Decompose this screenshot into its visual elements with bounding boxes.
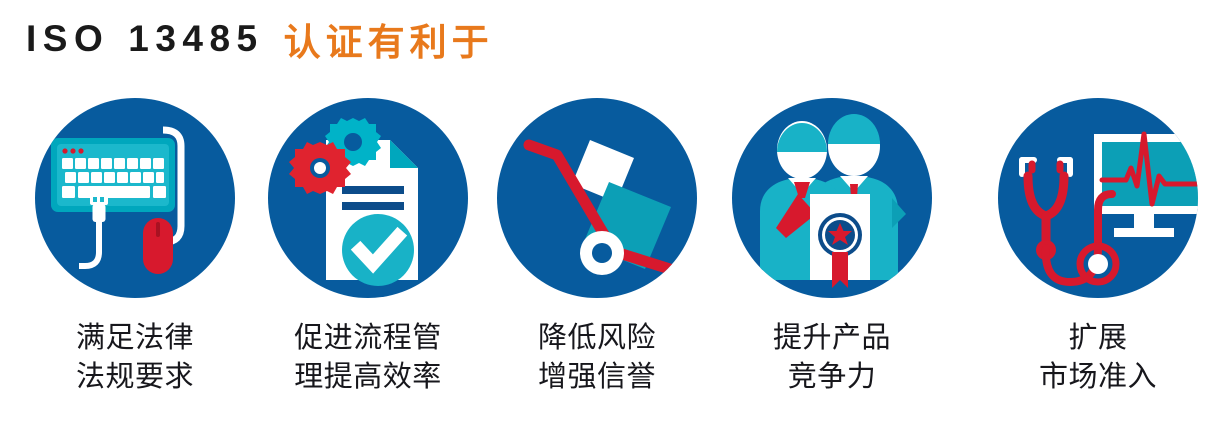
title-standard-name: ISO bbox=[26, 18, 109, 60]
caption-4-line-2: 竞争力 bbox=[712, 357, 952, 396]
caption-5: 扩展 市场准入 bbox=[978, 318, 1218, 396]
caption-5-line-1: 扩展 bbox=[978, 318, 1218, 357]
title-standard-number: 13485 bbox=[128, 18, 263, 60]
icon-circle-5 bbox=[998, 98, 1198, 298]
benefit-card-1 bbox=[35, 98, 235, 298]
people-certificate-icon bbox=[732, 98, 932, 298]
benefit-card-2 bbox=[268, 98, 468, 298]
title-suffix-chinese: 认证有利于 bbox=[284, 12, 494, 66]
document-gears-check-icon bbox=[268, 98, 468, 298]
stethoscope-monitor-icon bbox=[998, 98, 1198, 298]
caption-1: 满足法律 法规要求 bbox=[15, 318, 255, 396]
benefit-card-3 bbox=[497, 98, 697, 298]
icon-circle-2 bbox=[268, 98, 468, 298]
icon-circle-1 bbox=[35, 98, 235, 298]
benefit-card-5 bbox=[998, 98, 1198, 298]
caption-3: 降低风险 增强信誉 bbox=[477, 318, 717, 396]
caption-4-line-1: 提升产品 bbox=[712, 318, 952, 357]
caption-3-line-2: 增强信誉 bbox=[477, 357, 717, 396]
keyboard-mouse-icon bbox=[35, 98, 235, 298]
icon-circle-4 bbox=[732, 98, 932, 298]
caption-2: 促进流程管 理提高效率 bbox=[248, 318, 488, 396]
benefit-caption-row: 满足法律 法规要求 促进流程管 理提高效率 降低风险 增强信誉 提升产品 竞争力… bbox=[0, 318, 1220, 418]
icon-circle-3 bbox=[497, 98, 697, 298]
caption-5-line-2: 市场准入 bbox=[978, 357, 1218, 396]
benefit-icon-row bbox=[0, 98, 1220, 298]
hand-truck-boxes-icon bbox=[497, 98, 697, 298]
caption-2-line-1: 促进流程管 bbox=[248, 318, 488, 357]
caption-1-line-2: 法规要求 bbox=[15, 357, 255, 396]
caption-1-line-1: 满足法律 bbox=[15, 318, 255, 357]
benefit-card-4 bbox=[732, 98, 932, 298]
caption-3-line-1: 降低风险 bbox=[477, 318, 717, 357]
caption-4: 提升产品 竞争力 bbox=[712, 318, 952, 396]
page-title: ISO 13485 认证有利于 bbox=[26, 8, 494, 70]
caption-2-line-2: 理提高效率 bbox=[248, 357, 488, 396]
